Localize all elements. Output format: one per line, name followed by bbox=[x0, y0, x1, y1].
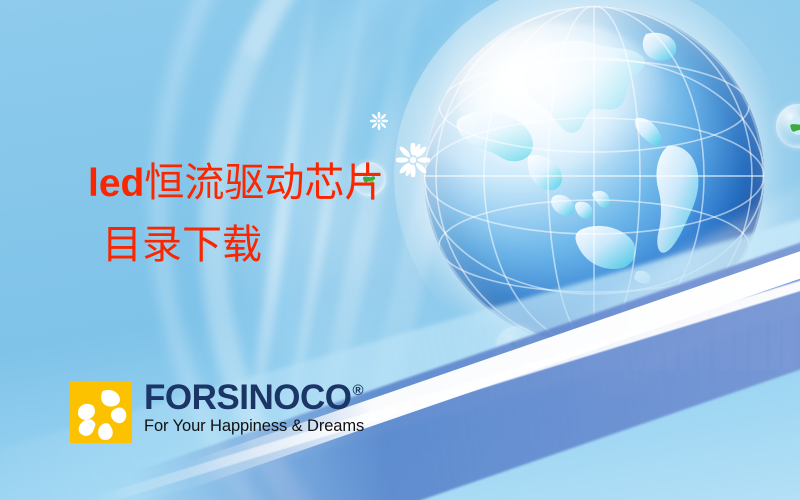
headline: led恒流驱动芯片 目录下载 bbox=[88, 163, 384, 265]
banner-image: led恒流驱动芯片 目录下载 FORSINOCO ® For Your Happ… bbox=[0, 0, 800, 500]
headline-latin: led bbox=[88, 162, 144, 205]
logo-text-block: FORSINOCO ® For Your Happiness & Dreams bbox=[144, 381, 364, 436]
logo-tagline: For Your Happiness & Dreams bbox=[144, 417, 364, 436]
company-logo: FORSINOCO ® For Your Happiness & Dreams bbox=[70, 381, 364, 443]
sparkle-flower-2-icon bbox=[370, 112, 388, 130]
globe-sphere bbox=[424, 6, 764, 346]
registered-trademark-icon: ® bbox=[352, 383, 363, 398]
pinwheel-petals-icon bbox=[70, 381, 132, 443]
headline-line-1: led恒流驱动芯片 bbox=[88, 163, 384, 203]
globe-rim bbox=[424, 6, 764, 346]
logo-wordmark-row: FORSINOCO ® bbox=[144, 381, 364, 415]
headline-cjk: 恒流驱动芯片 bbox=[144, 160, 384, 205]
mini-globe-icon bbox=[787, 115, 800, 137]
earth-globe-icon bbox=[424, 6, 764, 346]
leaf-pinwheel-icon bbox=[505, 335, 529, 359]
logo-mark bbox=[70, 381, 132, 443]
headline-line-2: 目录下载 bbox=[102, 225, 384, 265]
sparkle-flower-1-icon bbox=[396, 143, 430, 177]
bubble-leaf bbox=[496, 326, 538, 368]
logo-wordmark: FORSINOCO bbox=[144, 381, 351, 415]
